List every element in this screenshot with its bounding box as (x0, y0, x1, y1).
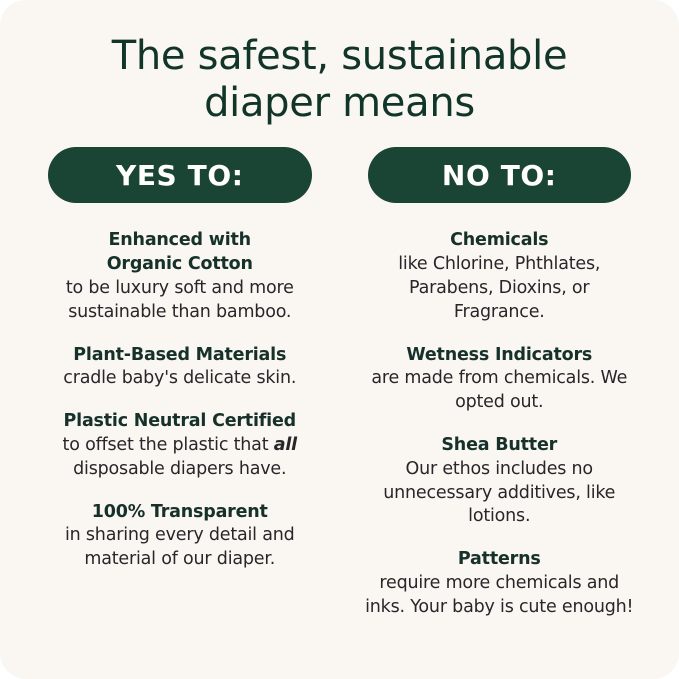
item-heading: Shea Butter (364, 434, 636, 458)
list-item: 100% Transparent in sharing every detail… (44, 501, 316, 572)
item-heading: Plant-Based Materials (44, 344, 316, 368)
item-heading: Chemicals (364, 229, 636, 253)
item-body: Our ethos includes no unnecessary additi… (364, 458, 636, 529)
item-heading: Wetness Indicators (364, 344, 636, 368)
item-body: require more chemicals and inks. Your ba… (364, 572, 636, 620)
item-body-emphasis: all (274, 435, 297, 455)
item-body: like Chlorine, Phthlates, Parabens, Diox… (364, 253, 636, 324)
no-to-badge-label: NO TO: (442, 159, 557, 192)
list-item: Shea Butter Our ethos includes no unnece… (364, 434, 636, 529)
item-heading: Patterns (364, 548, 636, 572)
item-body-prefix: to offset the plastic that (63, 435, 274, 455)
item-body: cradle baby's delicate skin. (44, 367, 316, 391)
item-body: to be luxury soft and more sustainable t… (44, 277, 316, 325)
item-heading: Plastic Neutral Certified (44, 410, 316, 434)
list-item: Patterns require more chemicals and inks… (364, 548, 636, 619)
promo-card: The safest, sustainable diaper means YES… (0, 0, 679, 679)
item-body: to offset the plastic that all disposabl… (44, 434, 316, 482)
item-body: are made from chemicals. We opted out. (364, 367, 636, 415)
no-column: NO TO: Chemicals like Chlorine, Phthlate… (364, 147, 636, 619)
list-item: Wetness Indicators are made from chemica… (364, 344, 636, 415)
item-heading-line: Organic Cotton (107, 254, 253, 274)
item-heading-line: Enhanced with (109, 230, 251, 250)
item-body-suffix: disposable diapers have. (73, 459, 286, 479)
list-item: Enhanced with Organic Cotton to be luxur… (44, 229, 316, 324)
yes-items-list: Enhanced with Organic Cotton to be luxur… (44, 229, 316, 572)
comparison-columns: YES TO: Enhanced with Organic Cotton to … (0, 147, 679, 619)
page-title: The safest, sustainable diaper means (0, 0, 679, 127)
item-body: in sharing every detail and material of … (44, 524, 316, 572)
item-heading: Enhanced with Organic Cotton (44, 229, 316, 277)
list-item: Plastic Neutral Certified to offset the … (44, 410, 316, 481)
no-items-list: Chemicals like Chlorine, Phthlates, Para… (364, 229, 636, 619)
yes-to-badge: YES TO: (48, 147, 312, 203)
no-to-badge: NO TO: (368, 147, 632, 203)
yes-to-badge-label: YES TO: (116, 159, 244, 192)
list-item: Chemicals like Chlorine, Phthlates, Para… (364, 229, 636, 324)
list-item: Plant-Based Materials cradle baby's deli… (44, 344, 316, 392)
item-heading: 100% Transparent (44, 501, 316, 525)
yes-column: YES TO: Enhanced with Organic Cotton to … (44, 147, 316, 619)
